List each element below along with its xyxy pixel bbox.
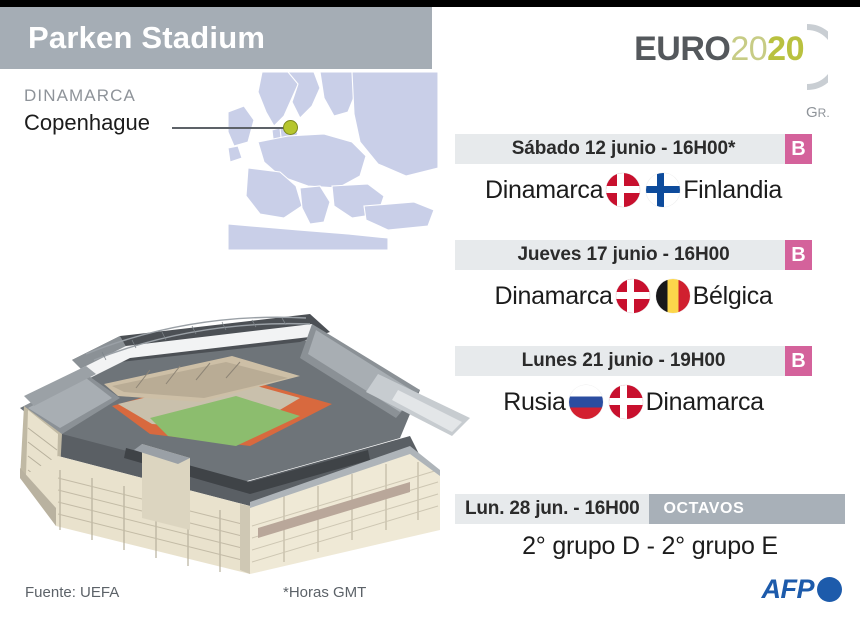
euro-year-first: 20: [730, 30, 767, 68]
match-row: Sábado 12 junio - 16H00* B Dinamarca Fin…: [455, 134, 845, 211]
knockout-bar: Lun. 28 jun. - 16H00 OCTAVOS: [455, 494, 845, 524]
match-date-bar: Sábado 12 junio - 16H00* B: [455, 134, 812, 164]
knockout-row: Lun. 28 jun. - 16H00 OCTAVOS 2° grupo D …: [455, 494, 845, 561]
page-title: Parken Stadium: [28, 20, 265, 56]
afp-logo-dot-icon: [817, 577, 842, 602]
afp-logo-text: AFP: [762, 574, 815, 605]
europe-map: [228, 72, 438, 250]
group-label-g: G: [806, 104, 818, 121]
match-teams: Dinamarca Finlandia: [455, 169, 812, 211]
denmark-flag-icon: [616, 279, 650, 313]
match-date: Lunes 21 junio - 19H00: [522, 350, 746, 372]
europe-map-svg: [228, 72, 438, 250]
group-label-r: R.: [818, 106, 830, 120]
match-row: Lunes 21 junio - 19H00 B Rusia Dinamarca: [455, 346, 845, 423]
denmark-flag-icon: [606, 173, 640, 207]
top-black-strip: [0, 0, 860, 7]
match-teams: Rusia Dinamarca: [455, 381, 812, 423]
away-team-name: Bélgica: [693, 282, 773, 311]
euro-year-second: 20: [767, 30, 804, 68]
group-label: GR.: [806, 104, 830, 121]
home-team-name: Rusia: [503, 388, 565, 417]
match-date-bar: Jueves 17 junio - 16H00 B: [455, 240, 812, 270]
city-label: Copenhague: [24, 110, 150, 136]
knockout-matchup: 2° grupo D - 2° grupo E: [455, 532, 845, 561]
match-date: Jueves 17 junio - 16H00: [517, 244, 749, 266]
group-badge: B: [785, 240, 812, 270]
home-team-name: Dinamarca: [494, 282, 612, 311]
match-date-bar: Lunes 21 junio - 19H00 B: [455, 346, 812, 376]
euro-logo-text: EURO2020: [634, 30, 804, 69]
finland-flag-icon: [646, 173, 680, 207]
knockout-stage-badge: OCTAVOS: [649, 494, 845, 524]
euro-2020-logo: EURO2020: [602, 26, 842, 88]
home-team-name: Dinamarca: [485, 176, 603, 205]
knockout-date: Lun. 28 jun. - 16H00: [455, 494, 649, 524]
away-team-name: Dinamarca: [646, 388, 764, 417]
match-date: Sábado 12 junio - 16H00*: [512, 138, 756, 160]
city-marker-dot-icon: [283, 120, 298, 135]
map-leader-line: [172, 127, 288, 129]
belgium-flag-icon: [656, 279, 690, 313]
match-teams: Dinamarca Bélgica: [455, 275, 812, 317]
euro-word: EURO: [634, 30, 730, 68]
match-row: Jueves 17 junio - 16H00 B Dinamarca Bélg…: [455, 240, 845, 317]
group-badge: B: [785, 346, 812, 376]
denmark-flag-icon: [609, 385, 643, 419]
stadium-title-bar: Parken Stadium: [0, 7, 432, 69]
gmt-note: *Horas GMT: [283, 584, 366, 601]
source-note: Fuente: UEFA: [25, 584, 119, 601]
country-label: DINAMARCA: [24, 86, 136, 106]
stadium-illustration: [0, 278, 480, 578]
stadium-svg: [0, 278, 480, 578]
group-badge: B: [785, 134, 812, 164]
russia-flag-icon: [569, 385, 603, 419]
away-team-name: Finlandia: [683, 176, 782, 205]
afp-logo: AFP: [762, 574, 843, 605]
